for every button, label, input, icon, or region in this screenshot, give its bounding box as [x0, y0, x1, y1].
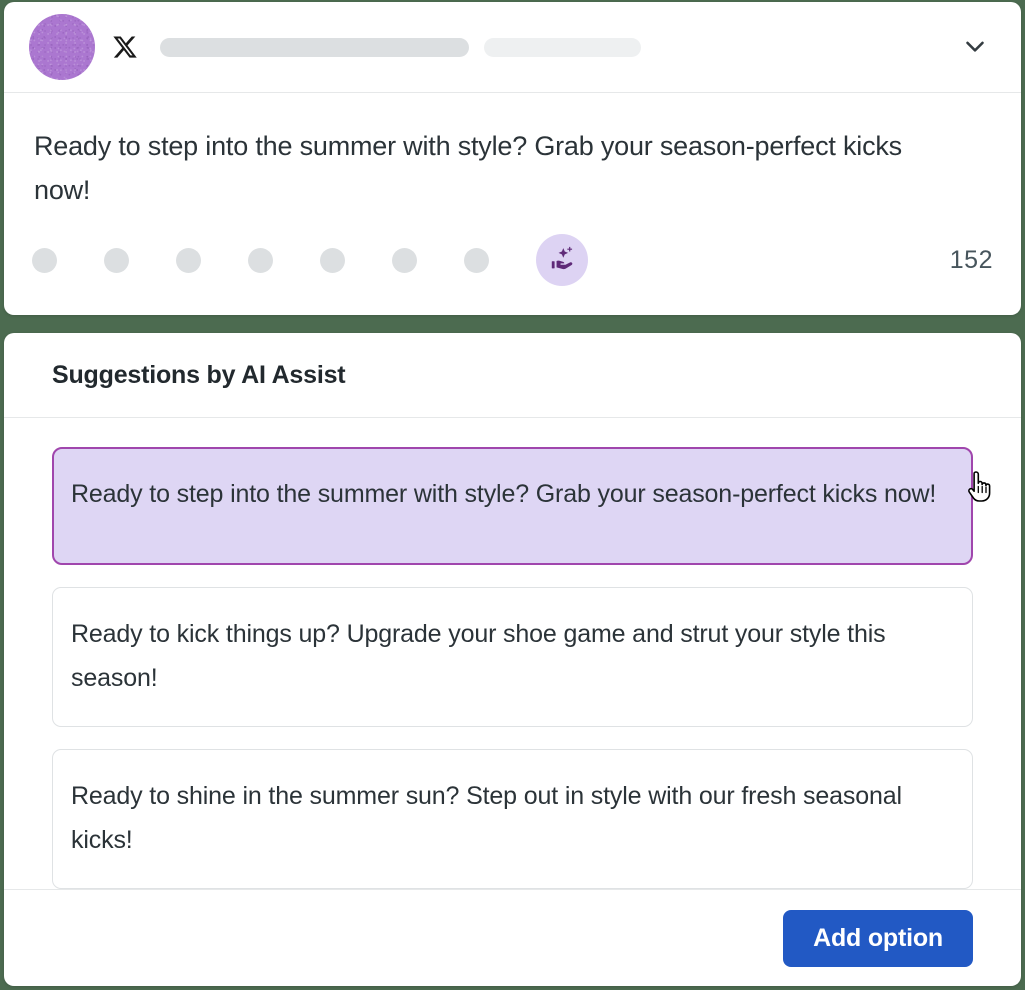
suggestion-option-1[interactable]: Ready to step into the summer with style… — [52, 447, 973, 565]
post-text[interactable]: Ready to step into the summer with style… — [34, 124, 964, 212]
x-twitter-icon — [112, 34, 138, 60]
post-composer-panel: Ready to step into the summer with style… — [4, 2, 1021, 315]
toolbar-tool-1[interactable] — [32, 248, 57, 273]
toolbar-tool-7[interactable] — [464, 248, 489, 273]
chevron-down-icon — [960, 31, 990, 64]
ai-magic-hand-icon — [547, 244, 577, 277]
toolbar-tool-3[interactable] — [176, 248, 201, 273]
toolbar-tool-5[interactable] — [320, 248, 345, 273]
composer-body: Ready to step into the summer with style… — [4, 93, 1021, 212]
composer-toolbar: 152 — [4, 212, 1021, 286]
toolbar-tool-2[interactable] — [104, 248, 129, 273]
add-option-button[interactable]: Add option — [783, 910, 973, 967]
toolbar-tool-6[interactable] — [392, 248, 417, 273]
ai-suggestions-panel: Suggestions by AI Assist Ready to step i… — [4, 333, 1021, 986]
suggestion-option-3[interactable]: Ready to shine in the summer sun? Step o… — [52, 749, 973, 889]
character-count: 152 — [950, 246, 993, 275]
account-handle-placeholder — [484, 38, 641, 57]
composer-header — [4, 2, 1021, 93]
suggestions-list: Ready to step into the summer with style… — [4, 418, 1021, 889]
account-info-placeholder — [160, 38, 641, 57]
suggestions-header: Suggestions by AI Assist — [4, 333, 1021, 418]
collapse-composer-button[interactable] — [957, 29, 993, 65]
suggestions-footer: Add option — [4, 889, 1021, 986]
toolbar-tool-4[interactable] — [248, 248, 273, 273]
account-name-placeholder — [160, 38, 469, 57]
suggestion-option-2[interactable]: Ready to kick things up? Upgrade your sh… — [52, 587, 973, 727]
page-title: Suggestions by AI Assist — [52, 361, 345, 390]
avatar — [29, 14, 95, 80]
ai-assist-button[interactable] — [536, 234, 588, 286]
